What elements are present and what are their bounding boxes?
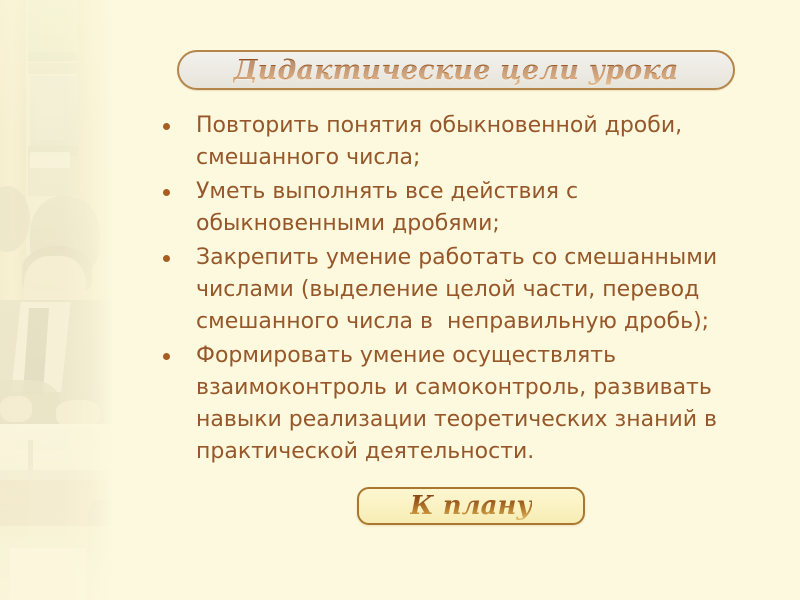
photo-artwork [0,0,114,600]
go-to-plan-button[interactable]: К плану [357,487,585,525]
photo-shelf-shadow [28,63,80,74]
bullet-dot-icon [163,255,170,262]
list-item-text: Закрепить умение работать со смешанными … [196,242,763,338]
classroom-student-photo [0,0,114,600]
list-item: Уметь выполнять все действия с обыкновен… [163,176,763,240]
objectives-list: Повторить понятия обыкновенной дроби, см… [163,110,763,470]
page-title: Дидактические цели урока [233,55,678,86]
list-item-text: Уметь выполнять все действия с обыкновен… [196,176,763,240]
photo-shelf-rail [28,52,80,61]
photo-book-edge [0,470,112,480]
photo-door-frame-left [0,0,26,300]
bullet-dot-icon [163,353,170,360]
slide-canvas: Дидактические цели урока Повторить понят… [0,0,800,600]
photo-book-stack [36,80,64,140]
bullet-dot-icon [163,189,170,196]
photo-shelf-papers [30,152,70,168]
photo-desk-papers [10,548,86,600]
list-item-text: Повторить понятия обыкновенной дроби, см… [196,110,763,174]
go-to-plan-button-label: К плану [410,491,532,521]
list-item-text: Формировать умение осуществлять взаимоко… [196,340,763,468]
list-item: Повторить понятия обыкновенной дроби, см… [163,110,763,174]
photo-student-writing-hand [0,396,32,422]
list-item: Закрепить умение работать со смешанными … [163,242,763,338]
bullet-dot-icon [163,123,170,130]
slide-title-plaque: Дидактические цели урока [177,50,735,90]
list-item: Формировать умение осуществлять взаимоко… [163,340,763,468]
